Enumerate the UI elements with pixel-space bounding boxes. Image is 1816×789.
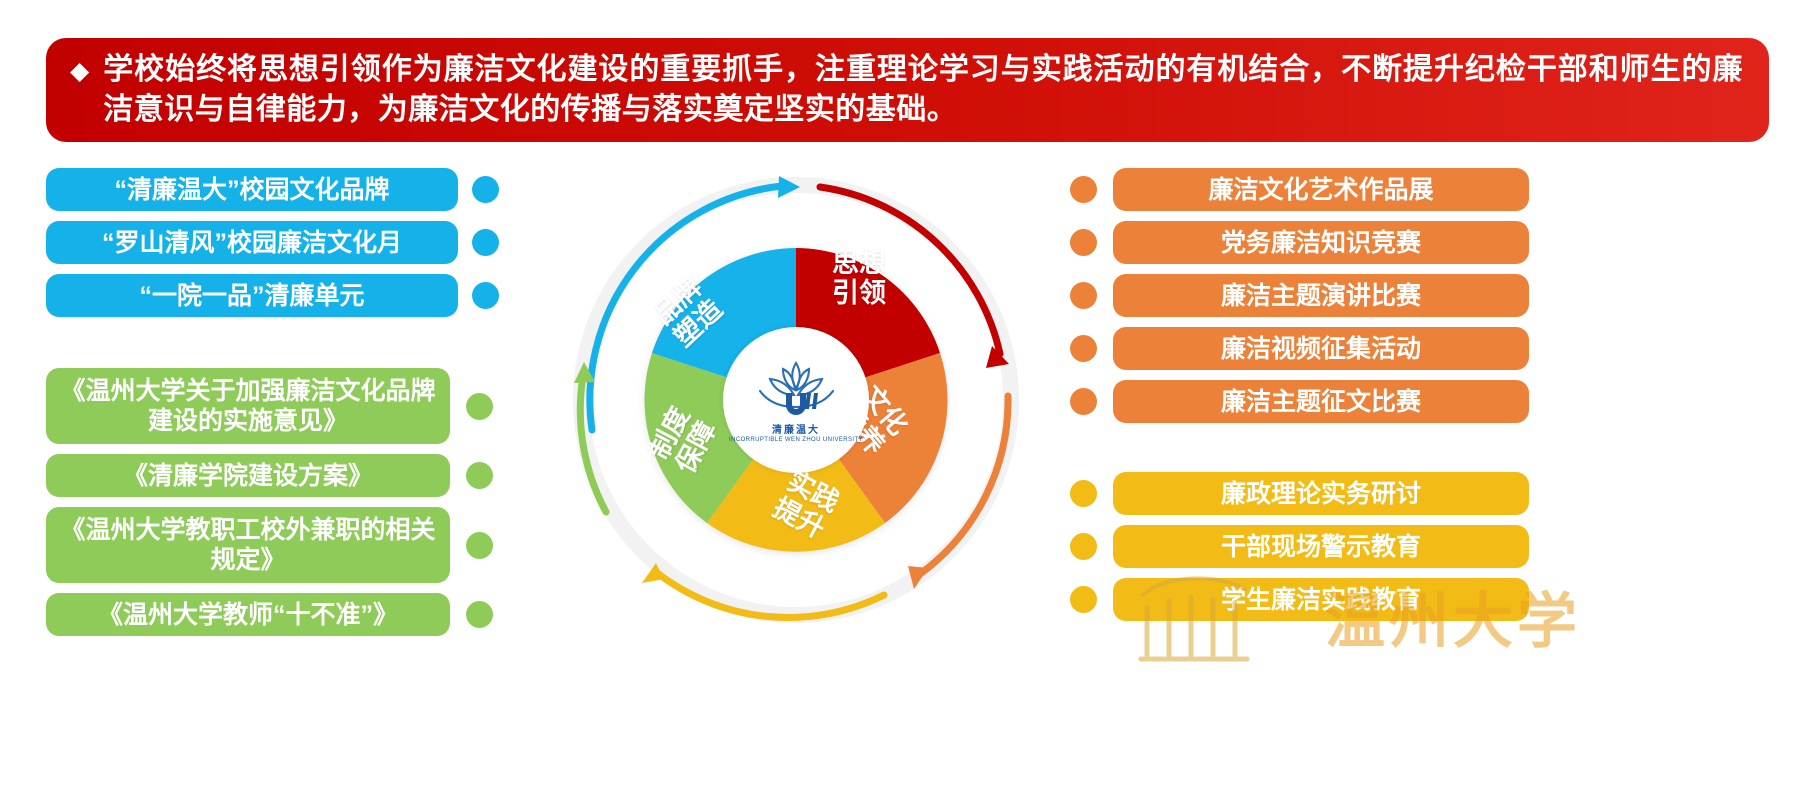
list-item-label: 廉洁文化艺术作品展: [1113, 168, 1529, 211]
list-item-label: “一院一品”清廉单元: [46, 274, 458, 317]
bullet-dot-icon: [1070, 229, 1097, 256]
list-item[interactable]: 廉洁文化艺术作品展: [1070, 168, 1540, 211]
bullet-dot-icon: [472, 176, 499, 203]
bullet-dot-icon: [1070, 335, 1097, 362]
list-item[interactable]: 党务廉洁知识竞赛: [1070, 221, 1540, 264]
list-item[interactable]: 廉洁主题征文比赛: [1070, 380, 1540, 423]
culture-activities-list-orange: 廉洁文化艺术作品展 党务廉洁知识竞赛 廉洁主题演讲比赛 廉洁视频征集活动 廉洁主…: [1070, 168, 1540, 433]
bullet-dot-icon: [1070, 282, 1097, 309]
practice-activities-list-yellow: 廉政理论实务研讨 干部现场警示教育 学生廉洁实践教育: [1070, 472, 1540, 631]
brand-activities-list-blue: “清廉温大”校园文化品牌 “罗山清风”校园廉洁文化月 “一院一品”清廉单元: [46, 168, 516, 327]
header-banner: ◆ 学校始终将思想引领作为廉洁文化建设的重要抓手，注重理论学习与实践活动的有机结…: [46, 38, 1769, 142]
list-item[interactable]: 《温州大学教职工校外兼职的相关规定》: [46, 507, 516, 583]
list-item-label: 《清廉学院建设方案》: [46, 454, 450, 497]
list-item-label: “罗山清风”校园廉洁文化月: [46, 221, 458, 264]
list-item[interactable]: 《温州大学教师“十不准”》: [46, 593, 516, 636]
list-item-label: 干部现场警示教育: [1113, 525, 1529, 568]
list-item-label: 党务廉洁知识竞赛: [1113, 221, 1529, 264]
list-item[interactable]: 廉洁主题演讲比赛: [1070, 274, 1540, 317]
bullet-dot-icon: [1070, 480, 1097, 507]
bullet-dot-icon: [472, 282, 499, 309]
wenzhou-university-lotus-logo-icon: [750, 357, 842, 419]
bullet-dot-icon: [1070, 176, 1097, 203]
list-item-label: 学生廉洁实践教育: [1113, 578, 1529, 621]
hub-logo-cn-text: 清廉温大: [772, 421, 820, 436]
bullet-dot-icon: [466, 532, 493, 559]
bullet-dot-icon: [466, 462, 493, 489]
list-item[interactable]: 干部现场警示教育: [1070, 525, 1540, 568]
bullet-dot-icon: [466, 601, 493, 628]
list-item-label: 廉洁主题演讲比赛: [1113, 274, 1529, 317]
list-item[interactable]: “一院一品”清廉单元: [46, 274, 516, 317]
list-item[interactable]: “清廉温大”校园文化品牌: [46, 168, 516, 211]
list-item[interactable]: “罗山清风”校园廉洁文化月: [46, 221, 516, 264]
bullet-dot-icon: [1070, 586, 1097, 613]
list-item[interactable]: 学生廉洁实践教育: [1070, 578, 1540, 621]
list-item-label: “清廉温大”校园文化品牌: [46, 168, 458, 211]
list-item[interactable]: 《温州大学关于加强廉洁文化品牌建设的实施意见》: [46, 368, 516, 444]
bullet-dot-icon: [1070, 388, 1097, 415]
list-item[interactable]: 廉洁视频征集活动: [1070, 327, 1540, 370]
diamond-bullet-icon: ◆: [70, 59, 89, 84]
circular-wheel-diagram: 思想 引领 文化 涵养 实践 提升 制度 保障 品牌 塑造: [536, 140, 1056, 660]
list-item[interactable]: 廉政理论实务研讨: [1070, 472, 1540, 515]
list-item-label: 廉洁主题征文比赛: [1113, 380, 1529, 423]
header-banner-text: 学校始终将思想引领作为廉洁文化建设的重要抓手，注重理论学习与实践活动的有机结合，…: [103, 50, 1743, 130]
list-item-label: 《温州大学教职工校外兼职的相关规定》: [46, 507, 450, 583]
bullet-dot-icon: [472, 229, 499, 256]
bullet-dot-icon: [1070, 533, 1097, 560]
list-item-label: 廉洁视频征集活动: [1113, 327, 1529, 370]
policy-documents-list-green: 《温州大学关于加强廉洁文化品牌建设的实施意见》 《清廉学院建设方案》 《温州大学…: [46, 368, 516, 646]
list-item-label: 《温州大学教师“十不准”》: [46, 593, 450, 636]
hub-logo-en-text: INCORRUPTIBLE WEN ZHOU UNIVERSITY: [729, 437, 863, 443]
infographic-canvas: ◆ 学校始终将思想引领作为廉洁文化建设的重要抓手，注重理论学习与实践活动的有机结…: [0, 0, 1816, 789]
list-item-label: 《温州大学关于加强廉洁文化品牌建设的实施意见》: [46, 368, 450, 444]
list-item[interactable]: 《清廉学院建设方案》: [46, 454, 516, 497]
bullet-dot-icon: [466, 393, 493, 420]
list-item-label: 廉政理论实务研讨: [1113, 472, 1529, 515]
center-hub: 清廉温大 INCORRUPTIBLE WEN ZHOU UNIVERSITY: [723, 327, 869, 473]
